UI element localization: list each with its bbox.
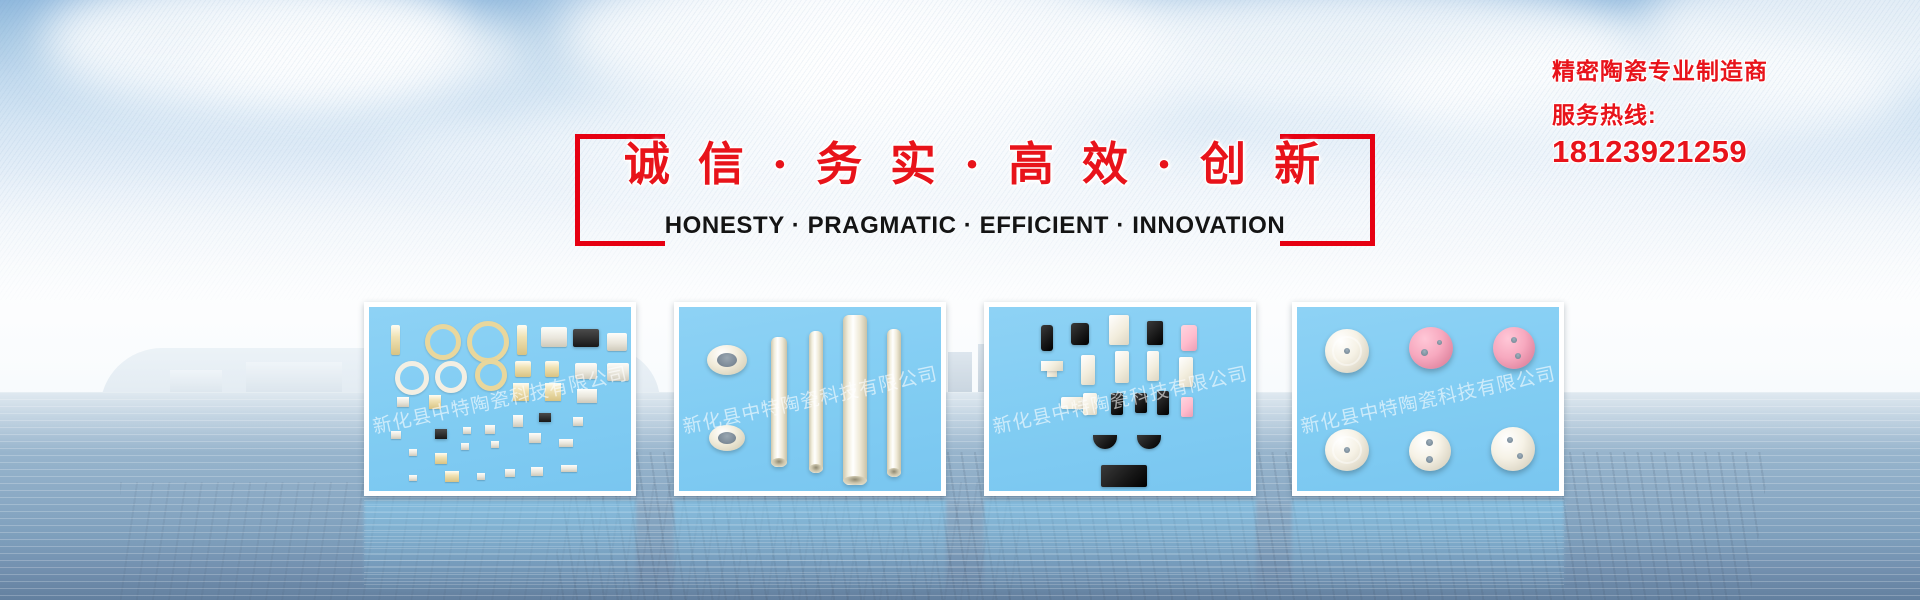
tube-part (809, 331, 823, 473)
disc-hole (1507, 437, 1513, 443)
disc-hole (1511, 337, 1517, 343)
block-part (1041, 325, 1053, 351)
collar-hole (717, 353, 737, 367)
product-image-4: 新化县中特陶瓷科技有限公司 (1297, 307, 1559, 491)
disc-part (1409, 327, 1453, 369)
chip-part (409, 475, 417, 481)
chip-part (573, 329, 599, 347)
hero-banner: 诚 信 · 务 实 · 高 效 · 创 新 HONESTY · PRAGMATI… (0, 0, 1920, 600)
chip-part (491, 441, 499, 448)
product-image-3: 新化县中特陶瓷科技有限公司 (989, 307, 1251, 491)
block-part (1135, 393, 1147, 413)
tube-end-cap (887, 468, 901, 477)
tube-end-cap (843, 476, 867, 485)
chip-part (545, 361, 559, 377)
ring-part (395, 361, 429, 395)
chip-part (513, 415, 523, 427)
ring-part (475, 359, 507, 391)
block-part (1157, 391, 1169, 415)
block-part (1101, 465, 1147, 487)
chip-part (531, 467, 543, 476)
block-part (1081, 355, 1095, 385)
block-part (1181, 397, 1193, 417)
product-panel-ceramic-discs[interactable]: 新化县中特陶瓷科技有限公司 (1292, 302, 1564, 496)
chip-part (515, 361, 531, 377)
product-panel-ceramic-tubes[interactable]: 新化县中特陶瓷科技有限公司 (674, 302, 946, 496)
disc-part (1325, 329, 1369, 373)
left-bracket-bottom (575, 241, 665, 246)
disc-part (1325, 429, 1369, 471)
arc-part (1093, 435, 1117, 449)
chip-part (577, 389, 597, 403)
collar-part (707, 345, 747, 375)
chip-part (435, 453, 447, 464)
chip-part (409, 449, 417, 456)
chip-part (517, 325, 527, 355)
disc-hole (1517, 453, 1523, 459)
block-part (1083, 393, 1097, 415)
chip-part (607, 363, 629, 381)
product-panel-group: 新化县中特陶瓷科技有限公司 (364, 302, 1564, 496)
block-part (1179, 357, 1193, 387)
right-bracket-bottom (1280, 241, 1375, 246)
chip-part (513, 383, 529, 401)
product-panel-smd-chip-components[interactable]: 新化县中特陶瓷科技有限公司 (364, 302, 636, 496)
product-image-2: 新化县中特陶瓷科技有限公司 (679, 307, 941, 491)
product-image-1: 新化县中特陶瓷科技有限公司 (369, 307, 631, 491)
block-part (1147, 351, 1159, 381)
chip-part (545, 383, 561, 401)
chip-part (539, 413, 551, 422)
block-part (1071, 323, 1089, 345)
chip-part (435, 429, 447, 439)
chip-part (575, 363, 597, 379)
tube-part (887, 329, 901, 477)
disc-hole (1426, 439, 1433, 446)
arc-part (1137, 435, 1161, 449)
chip-part (477, 473, 485, 480)
chip-part (561, 465, 577, 472)
tube-end-cap (809, 464, 823, 473)
collar-part (709, 425, 745, 451)
disc-hole (1344, 447, 1350, 453)
disc-hole (1344, 348, 1350, 354)
chip-part (573, 417, 583, 426)
hotline-label: 服务热线: (1552, 100, 1892, 130)
collar-hole (718, 432, 736, 444)
chip-part (541, 327, 567, 347)
chip-part (461, 443, 469, 450)
tube-end-cap (771, 458, 787, 467)
disc-part (1493, 327, 1535, 369)
chip-part (391, 325, 400, 355)
block-part (1115, 351, 1129, 383)
block-part (1041, 361, 1063, 371)
block-part (1111, 393, 1123, 415)
ring-part (425, 324, 461, 360)
disc-part (1491, 427, 1535, 471)
chip-part (397, 397, 409, 407)
contact-block: 精密陶瓷专业制造商 服务热线: 18123921259 (1552, 56, 1892, 170)
slogan-block: 诚 信 · 务 实 · 高 效 · 创 新 HONESTY · PRAGMATI… (575, 134, 1375, 246)
chip-part (429, 395, 441, 409)
hotline-phone-number[interactable]: 18123921259 (1552, 134, 1892, 170)
chip-part (445, 471, 459, 482)
chip-part (529, 433, 541, 443)
company-tagline: 精密陶瓷专业制造商 (1552, 56, 1892, 86)
tube-part (843, 315, 867, 485)
disc-hole (1421, 349, 1428, 356)
disc-hole (1426, 456, 1433, 463)
disc-hole (1437, 340, 1442, 345)
tube-part (771, 337, 787, 467)
block-part (1109, 315, 1129, 345)
product-panel-ceramic-blocks[interactable]: 新化县中特陶瓷科技有限公司 (984, 302, 1256, 496)
chip-part (391, 431, 401, 439)
ring-part (435, 361, 467, 393)
chip-part (607, 333, 627, 351)
block-part (1181, 325, 1197, 351)
block-part (1147, 321, 1163, 345)
chip-part (559, 439, 573, 447)
ring-part (467, 321, 509, 363)
slogan-chinese: 诚 信 · 务 实 · 高 效 · 创 新 (575, 128, 1375, 194)
disc-part (1409, 431, 1451, 471)
slogan-english: HONESTY · PRAGMATIC · EFFICIENT · INNOVA… (575, 212, 1375, 240)
disc-hole (1515, 353, 1521, 359)
chip-part (485, 425, 495, 434)
chip-part (505, 469, 515, 477)
chip-part (463, 427, 471, 434)
